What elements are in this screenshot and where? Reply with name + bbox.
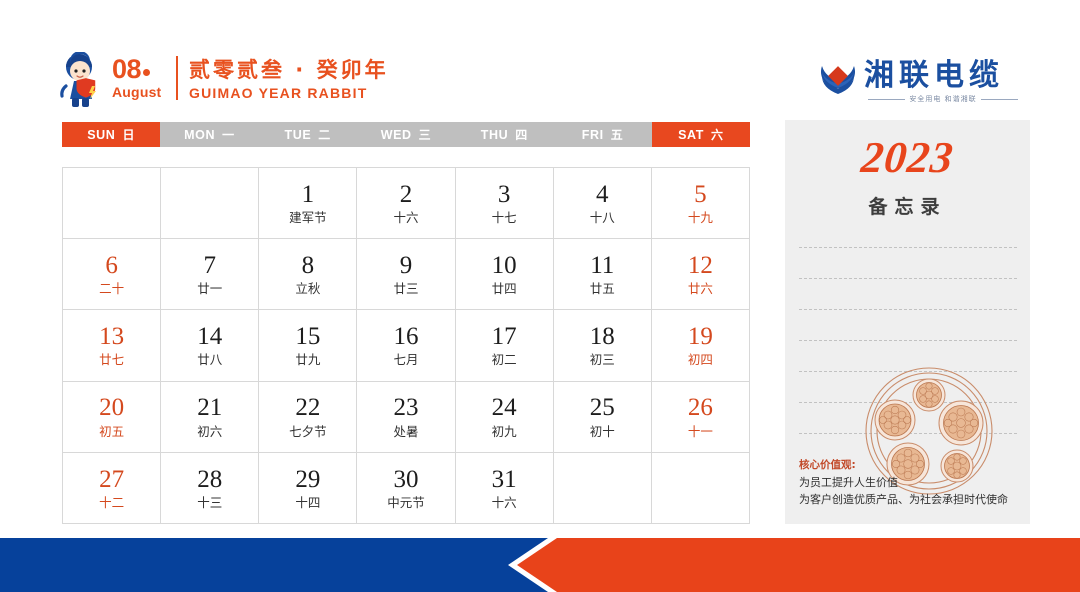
memo-panel: 2023 备忘录: [785, 120, 1030, 524]
day-number: 22: [295, 395, 320, 421]
day-lunar-label: 十一: [688, 426, 713, 439]
calendar-cell-empty: [554, 453, 652, 524]
day-number: 28: [197, 467, 222, 493]
calendar-day-cell[interactable]: 5十九: [652, 168, 750, 239]
day-lunar-label: 十六: [393, 212, 418, 225]
day-lunar-label: 廿一: [197, 283, 222, 296]
day-number: 2: [400, 182, 413, 208]
day-lunar-label: 廿五: [590, 283, 615, 296]
day-lunar-label: 初五: [99, 426, 124, 439]
memo-note-line[interactable]: [799, 278, 1017, 279]
month-dot-icon: [143, 69, 150, 76]
month-number-wrap: 08: [112, 56, 174, 83]
day-number: 21: [197, 395, 222, 421]
calendar-day-cell[interactable]: 19初四: [652, 310, 750, 381]
calendar-day-cell[interactable]: 17初二: [456, 310, 554, 381]
calendar-cell-empty: [63, 168, 161, 239]
calendar-page: 08 August 贰零贰叁 · 癸卯年 GUIMAO YEAR RABBIT …: [0, 0, 1080, 592]
memo-year-art: 2023: [785, 132, 1030, 183]
day-lunar-label: 初六: [197, 426, 222, 439]
weekday-cn: 六: [711, 126, 724, 143]
day-number: 12: [688, 253, 713, 279]
mascot-electrician-icon: [54, 52, 106, 108]
day-number: 4: [596, 182, 609, 208]
calendar-day-cell[interactable]: 27十二: [63, 453, 161, 524]
weekday-cn: 四: [515, 126, 528, 143]
day-lunar-label: 立秋: [295, 283, 320, 296]
core-values-block: 核心价值观: 为员工提升人生价值 为客户创造优质产品、为社会承担时代使命: [799, 458, 1027, 508]
day-number: 26: [688, 395, 713, 421]
calendar-day-cell[interactable]: 3十七: [456, 168, 554, 239]
weekday-header-bar: SUN日MON一TUE二WED三THU四FRI五SAT六: [62, 122, 750, 147]
day-number: 7: [203, 253, 216, 279]
calendar-day-cell[interactable]: 12廿六: [652, 239, 750, 310]
calendar-day-cell[interactable]: 7廿一: [161, 239, 259, 310]
calendar-day-cell[interactable]: 24初九: [456, 382, 554, 453]
weekday-en: SUN: [87, 128, 115, 142]
footer-blue-band: [0, 538, 560, 592]
year-english: GUIMAO YEAR RABBIT: [189, 86, 389, 100]
day-number: 23: [393, 395, 418, 421]
day-lunar-label: 二十: [99, 283, 124, 296]
month-block: 08 August: [112, 56, 174, 106]
day-number: 31: [492, 467, 517, 493]
weekday-cn: 一: [222, 126, 235, 143]
day-number: 3: [498, 182, 511, 208]
weekday-cn: 二: [318, 126, 331, 143]
calendar-day-cell[interactable]: 2十六: [357, 168, 455, 239]
day-lunar-label: 十二: [99, 497, 124, 510]
day-lunar-label: 廿九: [295, 354, 320, 367]
calendar-day-cell[interactable]: 23处暑: [357, 382, 455, 453]
day-number: 8: [302, 253, 315, 279]
calendar-day-cell[interactable]: 31十六: [456, 453, 554, 524]
day-number: 15: [295, 324, 320, 350]
day-lunar-label: 初十: [590, 426, 615, 439]
core-values-line-1: 为员工提升人生价值: [799, 474, 1027, 491]
day-lunar-label: 初九: [492, 426, 517, 439]
calendar-day-cell[interactable]: 8立秋: [259, 239, 357, 310]
weekday-cn: 日: [122, 126, 135, 143]
calendar-day-cell[interactable]: 26十一: [652, 382, 750, 453]
calendar-day-cell[interactable]: 25初十: [554, 382, 652, 453]
calendar-day-cell[interactable]: 16七月: [357, 310, 455, 381]
month-name: August: [112, 85, 174, 99]
day-number: 24: [492, 395, 517, 421]
brand-shield-icon: [818, 58, 858, 98]
weekday-en: MON: [184, 128, 215, 142]
calendar-day-cell[interactable]: 11廿五: [554, 239, 652, 310]
day-number: 14: [197, 324, 222, 350]
year-block: 贰零贰叁 · 癸卯年 GUIMAO YEAR RABBIT: [189, 58, 389, 100]
day-lunar-label: 廿三: [393, 283, 418, 296]
day-number: 16: [393, 324, 418, 350]
day-number: 30: [393, 467, 418, 493]
day-lunar-label: 十六: [492, 497, 517, 510]
weekday-en: SAT: [678, 128, 704, 142]
day-number: 27: [99, 467, 124, 493]
core-values-line-2: 为客户创造优质产品、为社会承担时代使命: [799, 491, 1027, 508]
calendar-day-cell[interactable]: 30中元节: [357, 453, 455, 524]
brand-logo: 湘联电缆 安全用电 和谐湘联: [818, 56, 1018, 108]
day-number: 13: [99, 324, 124, 350]
calendar-day-cell[interactable]: 9廿三: [357, 239, 455, 310]
day-number: 20: [99, 395, 124, 421]
calendar-day-cell[interactable]: 1建军节: [259, 168, 357, 239]
month-number: 08: [112, 54, 141, 84]
tagline-rule-right: [981, 99, 1018, 100]
calendar-day-cell[interactable]: 10廿四: [456, 239, 554, 310]
brand-tagline: 安全用电 和谐湘联: [909, 94, 976, 104]
day-lunar-label: 廿六: [688, 283, 713, 296]
memo-title: 备忘录: [785, 192, 1030, 219]
calendar-cell-empty: [652, 453, 750, 524]
day-lunar-label: 廿八: [197, 354, 222, 367]
brand-name: 湘联电缆: [864, 56, 1004, 96]
memo-note-line[interactable]: [799, 247, 1017, 248]
calendar-day-cell[interactable]: 29十四: [259, 453, 357, 524]
memo-note-line[interactable]: [799, 309, 1017, 310]
weekday-header-thu: THU四: [455, 122, 553, 147]
weekday-en: TUE: [284, 128, 311, 142]
day-lunar-label: 十四: [295, 497, 320, 510]
day-number: 25: [590, 395, 615, 421]
day-lunar-label: 中元节: [387, 497, 425, 510]
weekday-header-fri: FRI五: [553, 122, 651, 147]
day-number: 1: [302, 182, 315, 208]
day-lunar-label: 初三: [590, 354, 615, 367]
day-lunar-label: 建军节: [289, 212, 327, 225]
weekday-header-wed: WED三: [357, 122, 455, 147]
core-values-heading: 核心价值观:: [799, 458, 1027, 474]
day-number: 9: [400, 253, 413, 279]
weekday-header-sun: SUN日: [62, 122, 160, 147]
day-lunar-label: 初二: [492, 354, 517, 367]
weekday-en: WED: [381, 128, 412, 142]
day-number: 5: [694, 182, 707, 208]
day-lunar-label: 十三: [197, 497, 222, 510]
calendar-day-cell[interactable]: 14廿八: [161, 310, 259, 381]
weekday-header-sat: SAT六: [652, 122, 750, 147]
day-number: 10: [492, 253, 517, 279]
tagline-rule-left: [868, 99, 905, 100]
calendar-day-cell[interactable]: 28十三: [161, 453, 259, 524]
weekday-cn: 五: [611, 126, 624, 143]
day-lunar-label: 七夕节: [289, 426, 327, 439]
calendar-day-cell[interactable]: 13廿七: [63, 310, 161, 381]
weekday-cn: 三: [419, 126, 432, 143]
day-lunar-label: 处暑: [393, 426, 418, 439]
year-chinese: 贰零贰叁 · 癸卯年: [189, 58, 389, 83]
day-lunar-label: 廿七: [99, 354, 124, 367]
day-number: 18: [590, 324, 615, 350]
weekday-header-tue: TUE二: [259, 122, 357, 147]
day-number: 29: [295, 467, 320, 493]
calendar-day-cell[interactable]: 18初三: [554, 310, 652, 381]
weekday-header-mon: MON一: [160, 122, 258, 147]
day-number: 19: [688, 324, 713, 350]
header-divider: [176, 56, 178, 100]
page-header: 08 August 贰零贰叁 · 癸卯年 GUIMAO YEAR RABBIT …: [0, 0, 1080, 118]
calendar-day-cell[interactable]: 4十八: [554, 168, 652, 239]
memo-note-line[interactable]: [799, 340, 1017, 341]
calendar-day-cell[interactable]: 15廿九: [259, 310, 357, 381]
calendar-grid: 1建军节2十六3十七4十八5十九6二十7廿一8立秋9廿三10廿四11廿五12廿六…: [62, 167, 750, 524]
day-lunar-label: 初四: [688, 354, 713, 367]
calendar-day-cell[interactable]: 21初六: [161, 382, 259, 453]
calendar-day-cell[interactable]: 20初五: [63, 382, 161, 453]
calendar-cell-empty: [161, 168, 259, 239]
day-number: 11: [590, 253, 614, 279]
calendar-day-cell[interactable]: 6二十: [63, 239, 161, 310]
day-number: 17: [492, 324, 517, 350]
day-number: 6: [105, 253, 118, 279]
day-lunar-label: 十九: [688, 212, 713, 225]
day-lunar-label: 十八: [590, 212, 615, 225]
weekday-en: THU: [481, 128, 509, 142]
day-lunar-label: 廿四: [492, 283, 517, 296]
calendar-day-cell[interactable]: 22七夕节: [259, 382, 357, 453]
brand-tagline-wrap: 安全用电 和谐湘联: [868, 94, 1018, 104]
weekday-en: FRI: [582, 128, 604, 142]
day-lunar-label: 七月: [393, 354, 418, 367]
footer-banner: [0, 538, 1080, 592]
day-lunar-label: 十七: [492, 212, 517, 225]
